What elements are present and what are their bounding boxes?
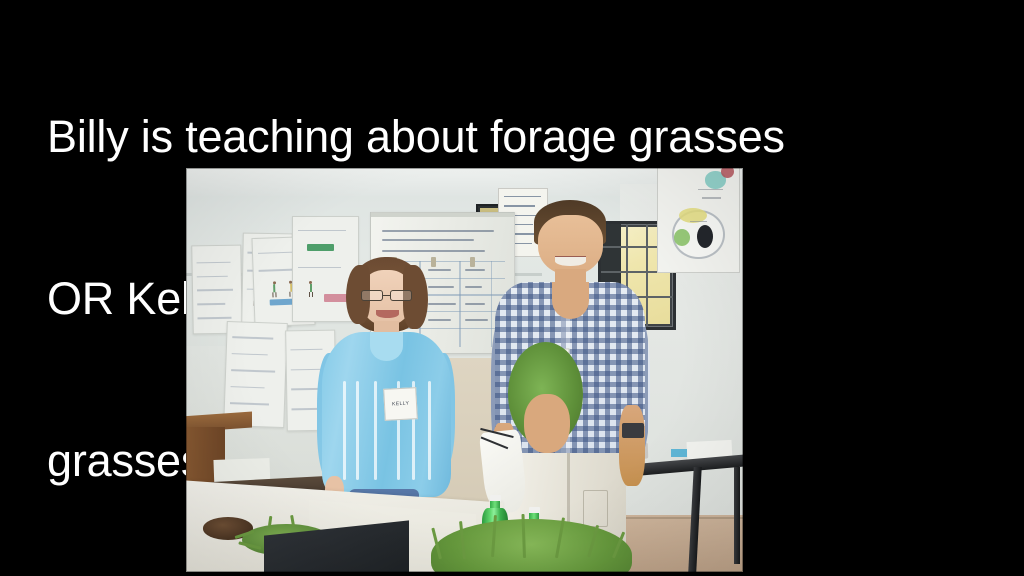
kelly-collar (370, 332, 402, 361)
kelly-smile (376, 310, 399, 318)
billy-hands (524, 394, 571, 453)
billy-shirt-vneck (552, 282, 589, 319)
person-billy: BILLY (492, 200, 648, 572)
flipchart-clip (470, 257, 475, 267)
presentation-slide: Billy is teaching about forage grasses O… (0, 0, 1024, 576)
desk-leg (734, 467, 741, 564)
kelly-glasses (361, 290, 412, 301)
billy-shorts-pocket (583, 490, 608, 527)
desk-object-blue (671, 449, 688, 457)
billy-smile (555, 256, 586, 266)
wall-poster (223, 320, 288, 427)
title-line-1: Billy is teaching about forage grasses (47, 110, 947, 164)
person-kelly: KELLY (320, 257, 454, 524)
billy-right-forearm (619, 405, 646, 487)
slide-photo: KELLY BILLY (186, 168, 743, 572)
cell-diagram-poster (657, 168, 741, 273)
billy-wristwatch (622, 423, 644, 438)
photo-scene: KELLY BILLY (186, 168, 743, 572)
sunglasses (480, 423, 514, 453)
kelly-name-badge: KELLY (383, 387, 418, 421)
